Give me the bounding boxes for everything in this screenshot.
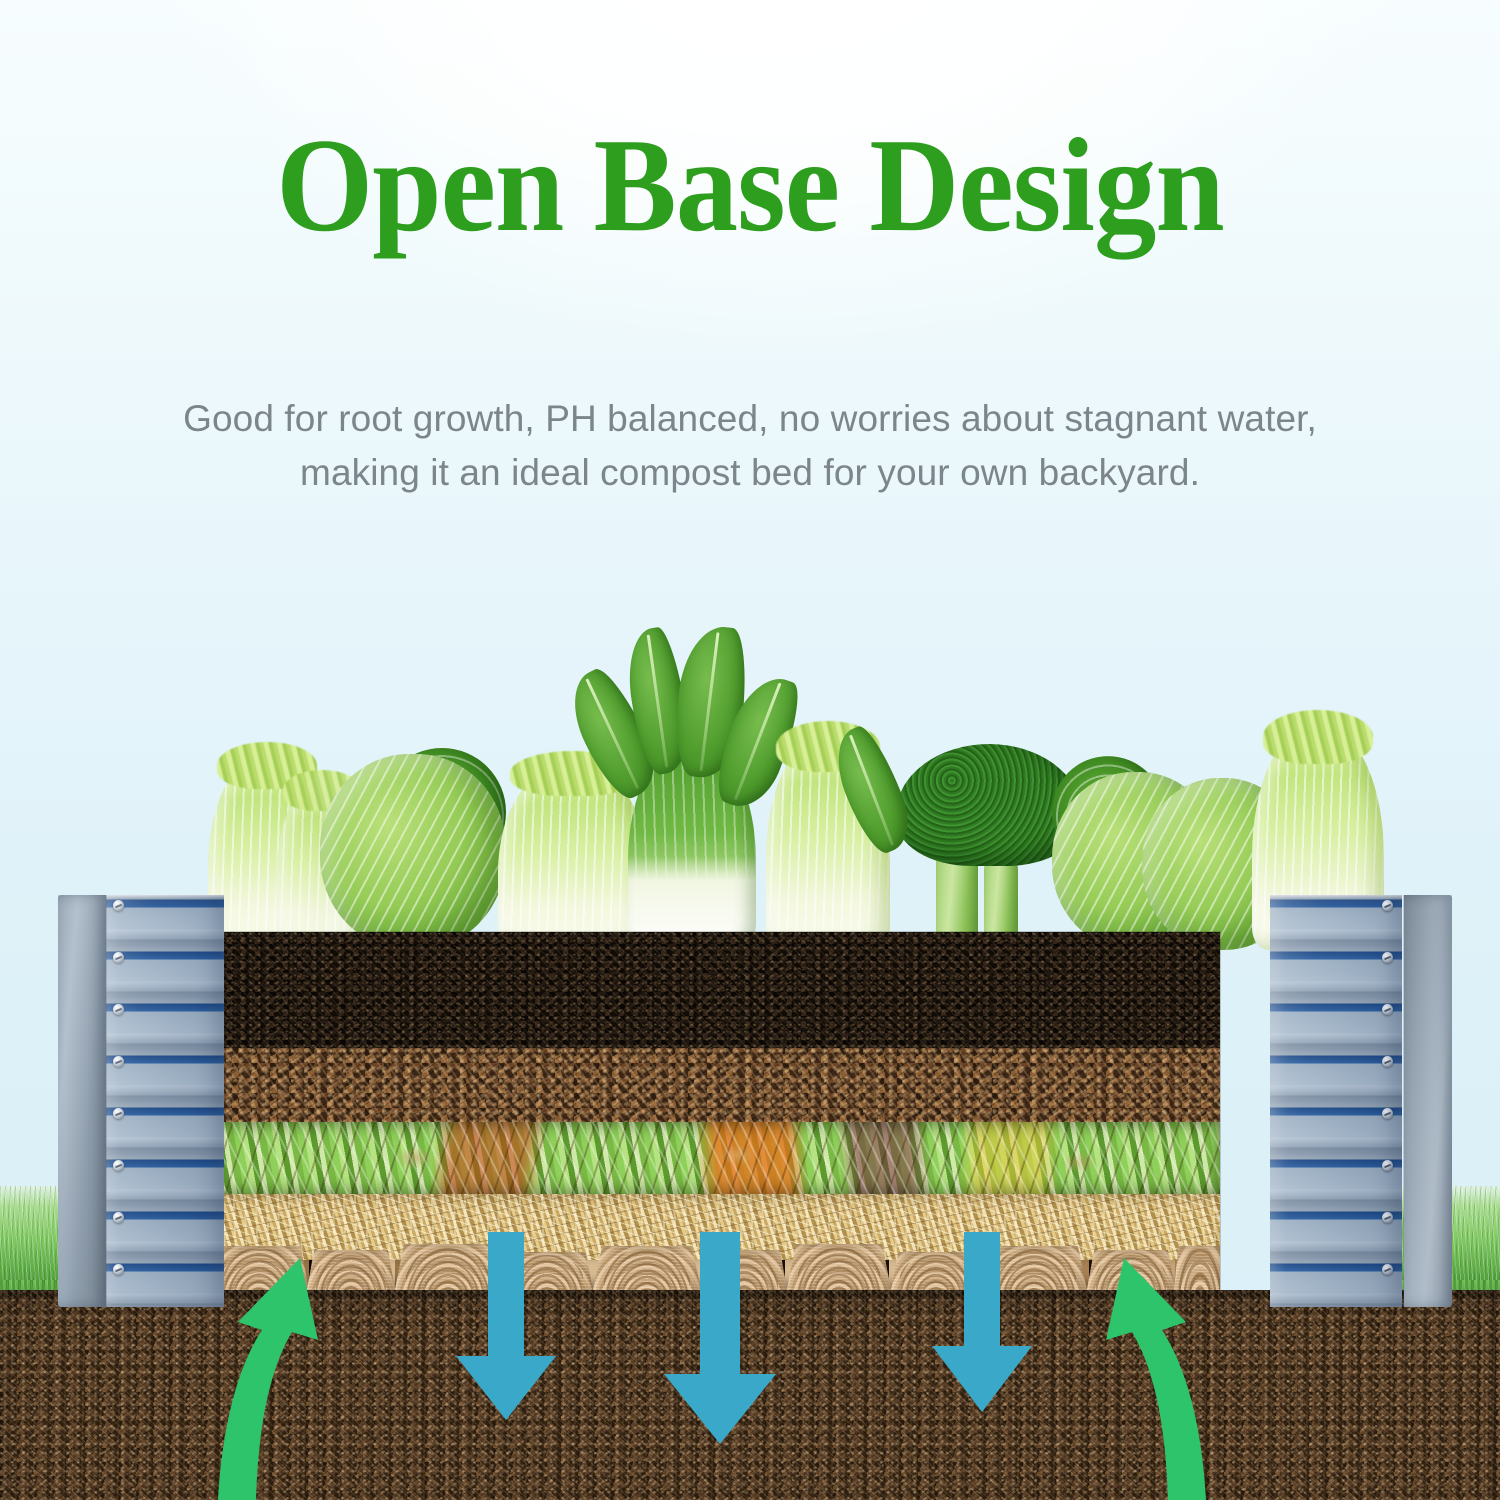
panel-screw [1382,1108,1393,1119]
panel-top-cap [1270,895,1402,899]
corner-post-right [1404,895,1452,1307]
panel-screw [1382,1004,1393,1015]
panel-screw [1382,1160,1393,1171]
layer-compost [213,1048,1220,1122]
corner-post-left [58,895,106,1307]
panel-screw [1382,952,1393,963]
plant-green-cabbage [320,754,506,950]
panel-screw [113,1160,124,1171]
panel-screw [113,1212,124,1223]
ground-texture [0,1290,1500,1500]
panel-top-cap [104,895,224,899]
panel-slats-left [104,895,224,1307]
bed-panel-right [1270,895,1452,1307]
vegetable-row [180,620,1430,950]
panel-screw [1382,900,1393,911]
panel-screw [113,1108,124,1119]
panel-screw [113,952,124,963]
panel-slats-right [1270,895,1402,1307]
leaf-midrib [700,632,720,771]
compost-cross-section [213,932,1220,1290]
bed-panel-left [58,895,224,1307]
panel-screw [1382,1056,1393,1067]
ground-soil [0,1290,1500,1500]
infographic-stage: Open Base Design Good for root growth, P… [0,0,1500,1500]
panel-screw [1382,1212,1393,1223]
panel-screw [113,1264,124,1275]
leaf-midrib [647,634,669,767]
panel-screw [113,900,124,911]
layer-topsoil [213,932,1220,1048]
layer-kitchen-scraps [213,1122,1220,1194]
panel-screw [113,1004,124,1015]
garden-bed-scene [0,0,1500,1500]
panel-screw [1382,1264,1393,1275]
panel-screw [113,1056,124,1067]
